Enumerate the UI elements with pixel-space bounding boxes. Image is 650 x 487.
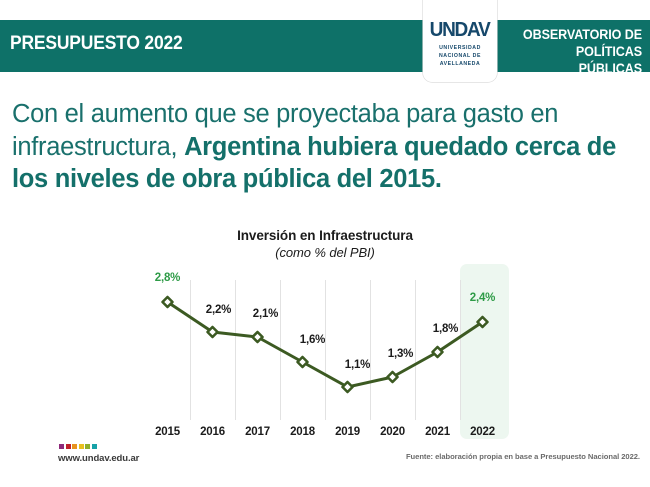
chart-x-tick-2021: 2021 <box>425 426 450 438</box>
header-subtitle-line2: POLÍTICAS PÚBLICAS <box>512 44 642 78</box>
source-note: Fuente: elaboración propia en base a Pre… <box>406 452 640 461</box>
chart-x-tick-2020: 2020 <box>380 426 405 438</box>
chart: Inversión en Infraestructura (como % del… <box>0 228 650 442</box>
chart-value-label: 1,8% <box>433 323 458 335</box>
headline-part-normal-2: . <box>435 165 442 193</box>
brand-swatches <box>59 444 97 449</box>
brand-swatch <box>79 444 84 449</box>
brand-swatch <box>92 444 97 449</box>
header-subtitle-line1: OBSERVATORIO DE <box>512 27 642 44</box>
chart-x-tick-2015: 2015 <box>155 426 180 438</box>
chart-value-label: 2,4% <box>470 292 495 304</box>
chart-x-axis: 20152016201720182019202020212022 <box>145 420 505 442</box>
headline: Con el aumento que se proyectaba para ga… <box>12 98 644 196</box>
undav-logo: UNDAV UNIVERSIDAD NACIONAL DE AVELLANEDA <box>423 0 497 82</box>
brand-swatch <box>85 444 90 449</box>
chart-x-tick-2018: 2018 <box>290 426 315 438</box>
chart-value-label: 2,8% <box>155 272 180 284</box>
undav-logo-mark: UNDAV <box>430 20 490 40</box>
brand-swatch <box>72 444 77 449</box>
brand-swatch <box>66 444 71 449</box>
page-title: PRESUPUESTO 2022 <box>10 33 183 55</box>
chart-x-tick-2017: 2017 <box>245 426 270 438</box>
chart-subtitle: (como % del PBI) <box>0 245 650 260</box>
chart-x-tick-2019: 2019 <box>335 426 360 438</box>
brand-swatch <box>59 444 64 449</box>
chart-plot-area: 2,8%2,2%2,1%1,6%1,1%1,3%1,8%2,4% <box>145 270 505 420</box>
header-subtitle: OBSERVATORIO DE POLÍTICAS PÚBLICAS <box>512 27 642 78</box>
chart-x-tick-2016: 2016 <box>200 426 225 438</box>
chart-title: Inversión en Infraestructura <box>0 228 650 243</box>
undav-logo-subtitle: UNIVERSIDAD NACIONAL DE AVELLANEDA <box>439 44 481 68</box>
chart-value-label: 1,6% <box>300 334 325 346</box>
chart-value-label: 1,3% <box>388 348 413 360</box>
chart-x-tick-2022: 2022 <box>470 426 495 438</box>
chart-value-label: 2,2% <box>206 304 231 316</box>
chart-value-label: 1,1% <box>345 359 370 371</box>
site-url: www.undav.edu.ar <box>58 453 139 464</box>
chart-value-label: 2,1% <box>253 308 278 320</box>
